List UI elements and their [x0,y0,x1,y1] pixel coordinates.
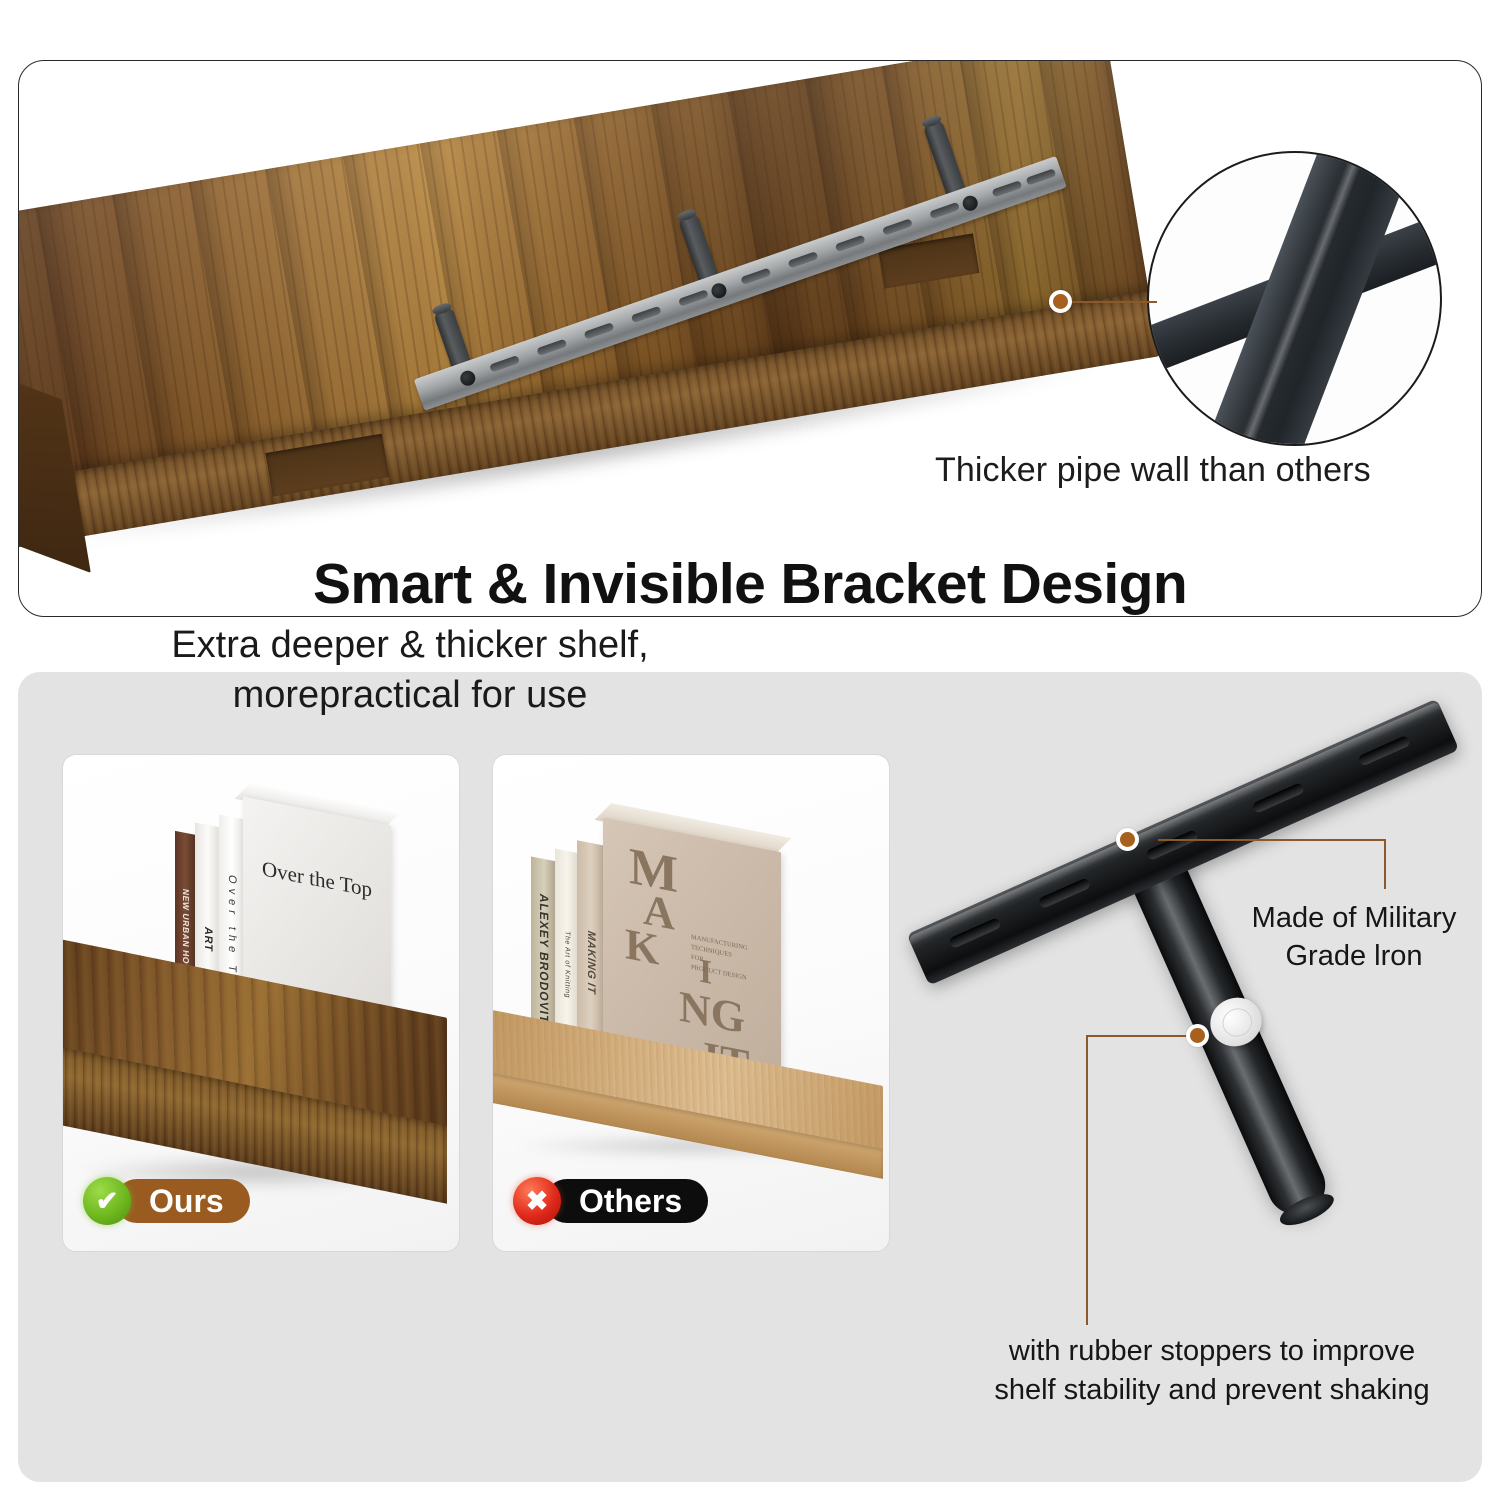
rail-slot-8 [835,235,866,252]
rubber-leader-vertical [1086,1035,1088,1325]
pipe-cap-1 [431,301,453,316]
check-icon: ✔ [83,1177,131,1225]
making-it-letter-k: K [625,922,659,973]
rail-slot-11 [992,180,1023,197]
rail-slot-1 [489,355,520,372]
bracket-joint-closeup-inset [1147,151,1442,446]
comparison-card-others: ALEXEY BRODOVITCH The Art of Knitting MA… [492,754,890,1252]
callout-thicker-pipe-wall: Thicker pipe wall than others [935,451,1371,490]
callout-leader-line-top [1071,301,1157,303]
comparison-card-ours: NEW URBAN HOUSING ART Over the Top Over … [62,754,460,1252]
others-badge-label: Others [545,1179,708,1223]
rail-screw-hole-3 [961,194,980,213]
ours-badge: ✔ Ours [83,1177,250,1225]
rail-slot-6 [740,268,771,285]
bracket-design-panel: Thicker pipe wall than others Smart & In… [18,60,1482,617]
rail-slot-5 [678,289,709,306]
rail-slot-2 [536,339,567,356]
callout-military-grade-iron: Made of Military Grade lron [1228,900,1480,975]
black-bracket-illustration [898,672,1482,1312]
ours-book-title: Over the Top [243,853,391,907]
ours-badge-label: Ours [115,1179,250,1223]
rail-slot-9 [882,218,913,235]
rail-screw-hole-2 [709,281,728,300]
rail-screw-hole-1 [458,369,477,388]
page-subtitle: For Easy Mounting [19,614,1481,617]
pipe-cap-2 [676,208,698,223]
comparison-caption: Extra deeper & thicker shelf, morepracti… [40,620,780,720]
page-title: Smart & Invisible Bracket Design [19,551,1481,617]
callout-marker-dot-top [1049,290,1072,313]
rail-slot-7 [788,251,819,268]
cross-icon: ✖ [513,1177,561,1225]
material-leader-horizontal [1158,839,1386,841]
pipe-cap-3 [921,114,943,129]
material-marker-dot [1116,828,1139,851]
callout-rubber-stoppers: with rubber stoppers to improve shelf st… [940,1332,1484,1410]
rail-slot-10 [929,202,960,219]
rubber-leader-horizontal [1086,1035,1198,1037]
making-it-subtitle-line3: FOR [691,954,704,963]
rail-slot-12 [1026,168,1057,185]
callout-military-line1: Made of Military [1252,902,1457,934]
material-leader-vertical [1384,839,1386,889]
bracket-pipe-end-cap [1276,1188,1338,1232]
rubber-marker-dot [1186,1024,1209,1047]
callout-rubber-line1: with rubber stoppers to improve [1009,1335,1415,1367]
comparison-caption-line2: morepractical for use [233,674,588,716]
making-it-letter-ng: NG [679,984,745,1041]
others-badge: ✖ Others [513,1177,708,1225]
callout-rubber-line2: shelf stability and prevent shaking [994,1374,1429,1406]
rail-slot-3 [584,322,615,339]
callout-military-line2: Grade lron [1285,940,1422,972]
rail-slot-4 [631,306,662,323]
comparison-caption-line1: Extra deeper & thicker shelf, [171,624,648,666]
